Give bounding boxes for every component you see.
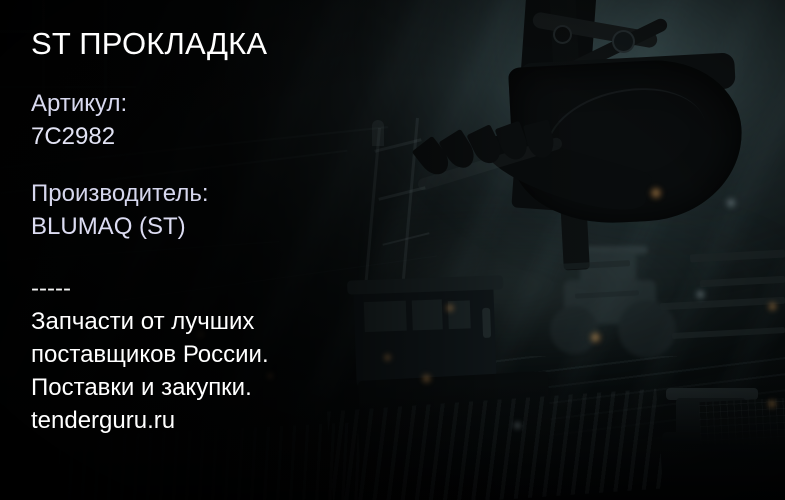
manufacturer-field: Производитель: BLUMAQ (ST)	[31, 177, 209, 243]
manufacturer-value: BLUMAQ (ST)	[31, 210, 209, 243]
promo-line-1: Запчасти от лучших	[31, 305, 269, 338]
promo-line-3: Поставки и закупки.	[31, 371, 269, 404]
product-title: ST ПРОКЛАДКА	[31, 26, 267, 62]
article-field: Артикул: 7C2982	[31, 87, 127, 153]
manufacturer-label: Производитель:	[31, 177, 209, 210]
article-value: 7C2982	[31, 120, 127, 153]
banner-content: ST ПРОКЛАДКА Артикул: 7C2982 Производите…	[0, 0, 785, 500]
promo-site-url: tenderguru.ru	[31, 404, 269, 437]
article-label: Артикул:	[31, 87, 127, 120]
promo-line-2: поставщиков России.	[31, 338, 269, 371]
product-banner: ST ПРОКЛАДКА Артикул: 7C2982 Производите…	[0, 0, 785, 500]
separator-dashes: -----	[31, 272, 71, 305]
promo-text-block: Запчасти от лучших поставщиков России. П…	[31, 305, 269, 437]
